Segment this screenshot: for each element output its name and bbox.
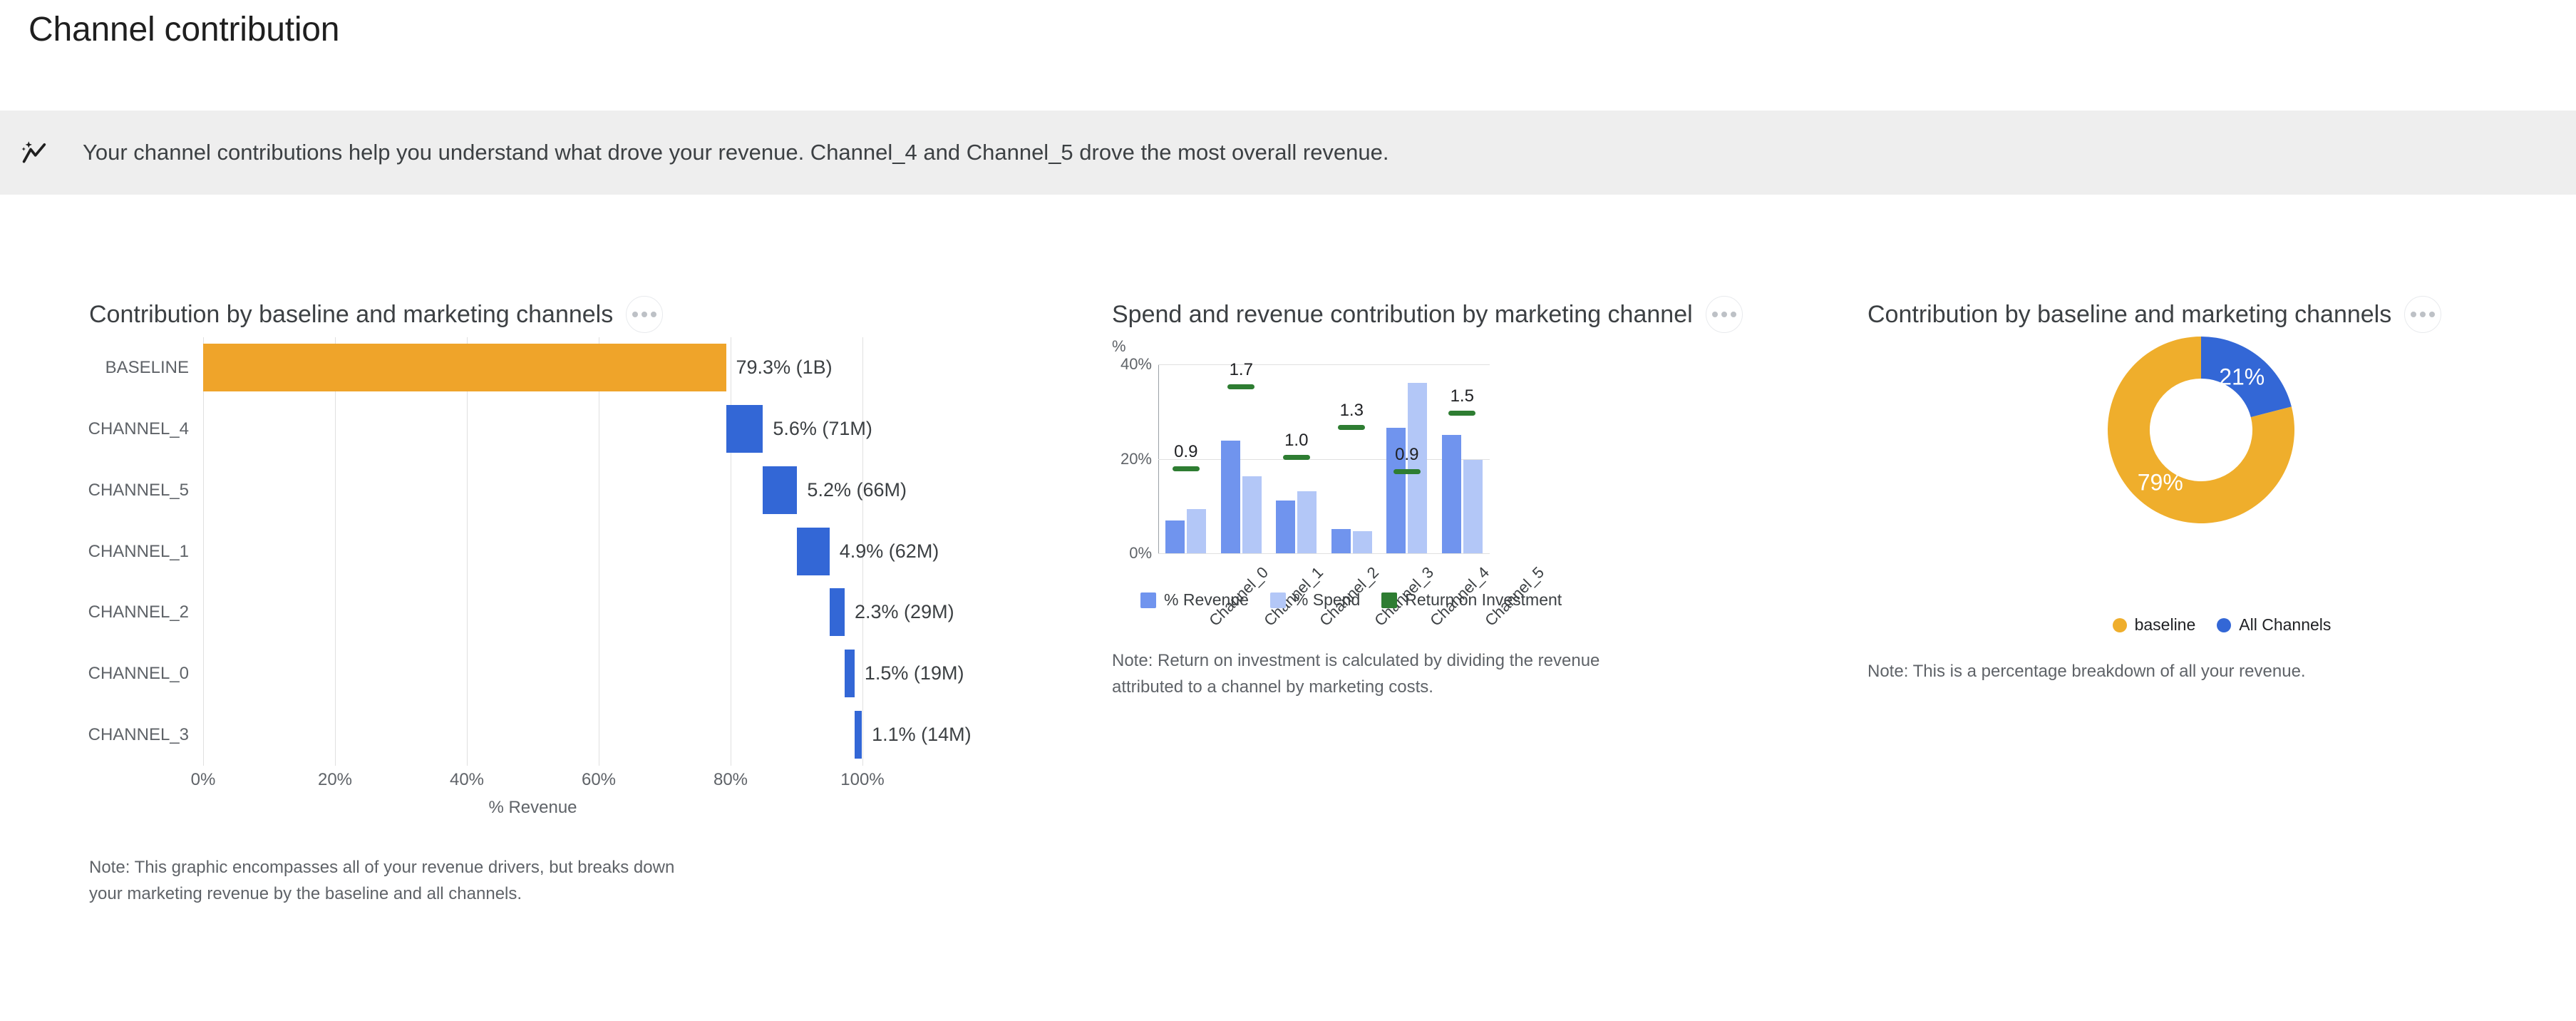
waterfall-data-label: 2.3% (29M) [855, 582, 954, 643]
waterfall-bars: BASELINE79.3% (1B)CHANNEL_45.6% (71M)CHA… [0, 337, 1112, 766]
panel-waterfall: Contribution by baseline and marketing c… [0, 195, 1112, 1021]
waterfall-row: BASELINE79.3% (1B) [0, 337, 1112, 399]
donut-percentage-label: 79% [2138, 469, 2183, 496]
y-axis-tick-label: 20% [1088, 450, 1152, 468]
waterfall-bar[interactable] [203, 344, 726, 391]
insight-banner: Your channel contributions help you unde… [0, 111, 2576, 195]
waterfall-data-label: 4.9% (62M) [840, 521, 939, 583]
waterfall-x-axis-title: % Revenue [203, 798, 862, 818]
legend-dot [2113, 618, 2127, 632]
waterfall-data-label: 5.2% (66M) [807, 460, 907, 521]
waterfall-more-options-button[interactable] [626, 296, 663, 333]
dot-icon [1731, 312, 1736, 317]
waterfall-data-label: 1.1% (14M) [872, 704, 972, 766]
waterfall-data-label: 79.3% (1B) [736, 337, 833, 399]
grouped-bars-legend: % Revenue% SpendReturn on Investment [1140, 590, 1562, 610]
waterfall-bar[interactable] [797, 528, 829, 575]
roi-marker[interactable] [1448, 411, 1475, 416]
donut-percentage-label: 21% [2219, 364, 2265, 391]
roi-value-label: 1.0 [1284, 431, 1308, 451]
x-axis-tick-label: 100% [840, 770, 884, 790]
grid-line [1158, 364, 1490, 365]
waterfall-category-label: CHANNEL_2 [0, 582, 189, 643]
dot-icon [1721, 312, 1727, 317]
dot-icon [651, 312, 656, 317]
grouped-bars-title: Spend and revenue contribution by market… [1112, 301, 1693, 329]
donut-title: Contribution by baseline and marketing c… [1867, 301, 2391, 329]
waterfall-row: CHANNEL_14.9% (62M) [0, 521, 1112, 583]
waterfall-row: CHANNEL_22.3% (29M) [0, 582, 1112, 643]
dot-icon [2420, 312, 2426, 317]
donut-header: Contribution by baseline and marketing c… [1867, 294, 2441, 334]
legend-label: All Channels [2239, 615, 2331, 635]
roi-value-label: 1.5 [1451, 386, 1474, 406]
legend-item[interactable]: Return on Investment [1381, 590, 1562, 610]
dot-icon [2411, 312, 2416, 317]
x-axis-tick-label: 80% [713, 770, 748, 790]
grouped-bar[interactable] [1187, 509, 1206, 553]
legend-label: baseline [2135, 615, 2196, 635]
roi-value-label: 0.9 [1395, 445, 1418, 465]
grouped-bar[interactable] [1242, 476, 1262, 553]
roi-marker[interactable] [1283, 455, 1310, 460]
dot-icon [632, 312, 638, 317]
waterfall-x-axis: 0%20%40%60%80%100% [203, 766, 862, 794]
panel-donut: Contribution by baseline and marketing c… [1867, 195, 2576, 1021]
grid-line [1158, 553, 1490, 554]
grouped-bar[interactable] [1331, 529, 1351, 553]
waterfall-category-label: CHANNEL_1 [0, 521, 189, 583]
dot-icon [2429, 312, 2435, 317]
waterfall-category-label: CHANNEL_0 [0, 643, 189, 704]
waterfall-category-label: CHANNEL_5 [0, 460, 189, 521]
legend-swatch [1381, 592, 1397, 608]
roi-value-label: 1.3 [1340, 401, 1364, 421]
roi-marker[interactable] [1338, 425, 1365, 430]
x-axis-tick-label: 40% [450, 770, 484, 790]
waterfall-data-label: 5.6% (71M) [773, 399, 872, 460]
grid-line [1158, 459, 1490, 460]
donut-note: Note: This is a percentage breakdown of … [1867, 658, 2509, 684]
donut-chart: 79%21% [1867, 330, 2576, 615]
waterfall-bar[interactable] [726, 405, 763, 453]
roi-value-label: 1.7 [1230, 360, 1253, 380]
insight-banner-text: Your channel contributions help you unde… [83, 140, 1389, 165]
roi-marker[interactable] [1173, 466, 1200, 471]
grouped-bar[interactable] [1408, 383, 1427, 553]
roi-marker[interactable] [1393, 469, 1421, 474]
grouped-bars-note: Note: Return on investment is calculated… [1112, 647, 1654, 700]
insights-sparkle-icon [19, 136, 51, 169]
legend-label: % Spend [1294, 590, 1360, 610]
waterfall-note: Note: This graphic encompasses all of yo… [89, 854, 709, 907]
waterfall-title: Contribution by baseline and marketing c… [89, 301, 613, 329]
waterfall-category-label: CHANNEL_3 [0, 704, 189, 766]
waterfall-bar[interactable] [763, 466, 797, 514]
donut-more-options-button[interactable] [2404, 296, 2441, 333]
page-title: Channel contribution [29, 10, 339, 49]
legend-item[interactable]: baseline [2113, 615, 2196, 635]
legend-item[interactable]: All Channels [2217, 615, 2331, 635]
x-axis-tick-label: 60% [582, 770, 616, 790]
grouped-bars-plot: 0%20%40%0.9Channel_01.7Channel_11.0Chann… [1158, 364, 1490, 553]
waterfall-row: CHANNEL_45.6% (71M) [0, 399, 1112, 460]
grouped-bar[interactable] [1463, 460, 1483, 553]
donut-legend: baselineAll Channels [1867, 615, 2576, 635]
x-axis-tick-label: 0% [191, 770, 216, 790]
y-axis-tick-label: 0% [1088, 544, 1152, 563]
grouped-bars-more-options-button[interactable] [1706, 296, 1743, 333]
legend-label: Return on Investment [1405, 590, 1562, 610]
waterfall-category-label: CHANNEL_4 [0, 399, 189, 460]
grouped-bars-unit-label: % [1112, 337, 1126, 356]
waterfall-row: CHANNEL_31.1% (14M) [0, 704, 1112, 766]
panel-grouped-bars: Spend and revenue contribution by market… [1112, 195, 1867, 1021]
grouped-bar[interactable] [1353, 531, 1372, 553]
grouped-bars-header: Spend and revenue contribution by market… [1112, 294, 1743, 334]
legend-swatch [1140, 592, 1156, 608]
roi-value-label: 0.9 [1174, 442, 1197, 462]
roi-marker[interactable] [1227, 384, 1254, 389]
waterfall-data-label: 1.5% (19M) [865, 643, 964, 704]
y-axis-tick-label: 40% [1088, 355, 1152, 374]
dot-icon [642, 312, 647, 317]
waterfall-bar[interactable] [855, 711, 862, 759]
waterfall-bar[interactable] [845, 650, 855, 697]
legend-dot [2217, 618, 2231, 632]
waterfall-row: CHANNEL_01.5% (19M) [0, 643, 1112, 704]
legend-item[interactable]: % Spend [1270, 590, 1360, 610]
grouped-bar[interactable] [1221, 441, 1240, 553]
grouped-bar[interactable] [1442, 435, 1461, 553]
legend-swatch [1270, 592, 1286, 608]
donut-svg [2101, 330, 2301, 530]
charts-container: Contribution by baseline and marketing c… [0, 195, 2576, 1021]
grouped-bar[interactable] [1276, 501, 1295, 553]
waterfall-category-label: BASELINE [0, 337, 189, 399]
grouped-bar[interactable] [1165, 520, 1185, 553]
dot-icon [1712, 312, 1718, 317]
legend-item[interactable]: % Revenue [1140, 590, 1249, 610]
waterfall-header: Contribution by baseline and marketing c… [89, 294, 663, 334]
grouped-bar[interactable] [1297, 491, 1317, 553]
legend-label: % Revenue [1164, 590, 1249, 610]
x-axis-tick-label: 20% [318, 770, 352, 790]
waterfall-row: CHANNEL_55.2% (66M) [0, 460, 1112, 521]
waterfall-bar[interactable] [830, 588, 845, 636]
